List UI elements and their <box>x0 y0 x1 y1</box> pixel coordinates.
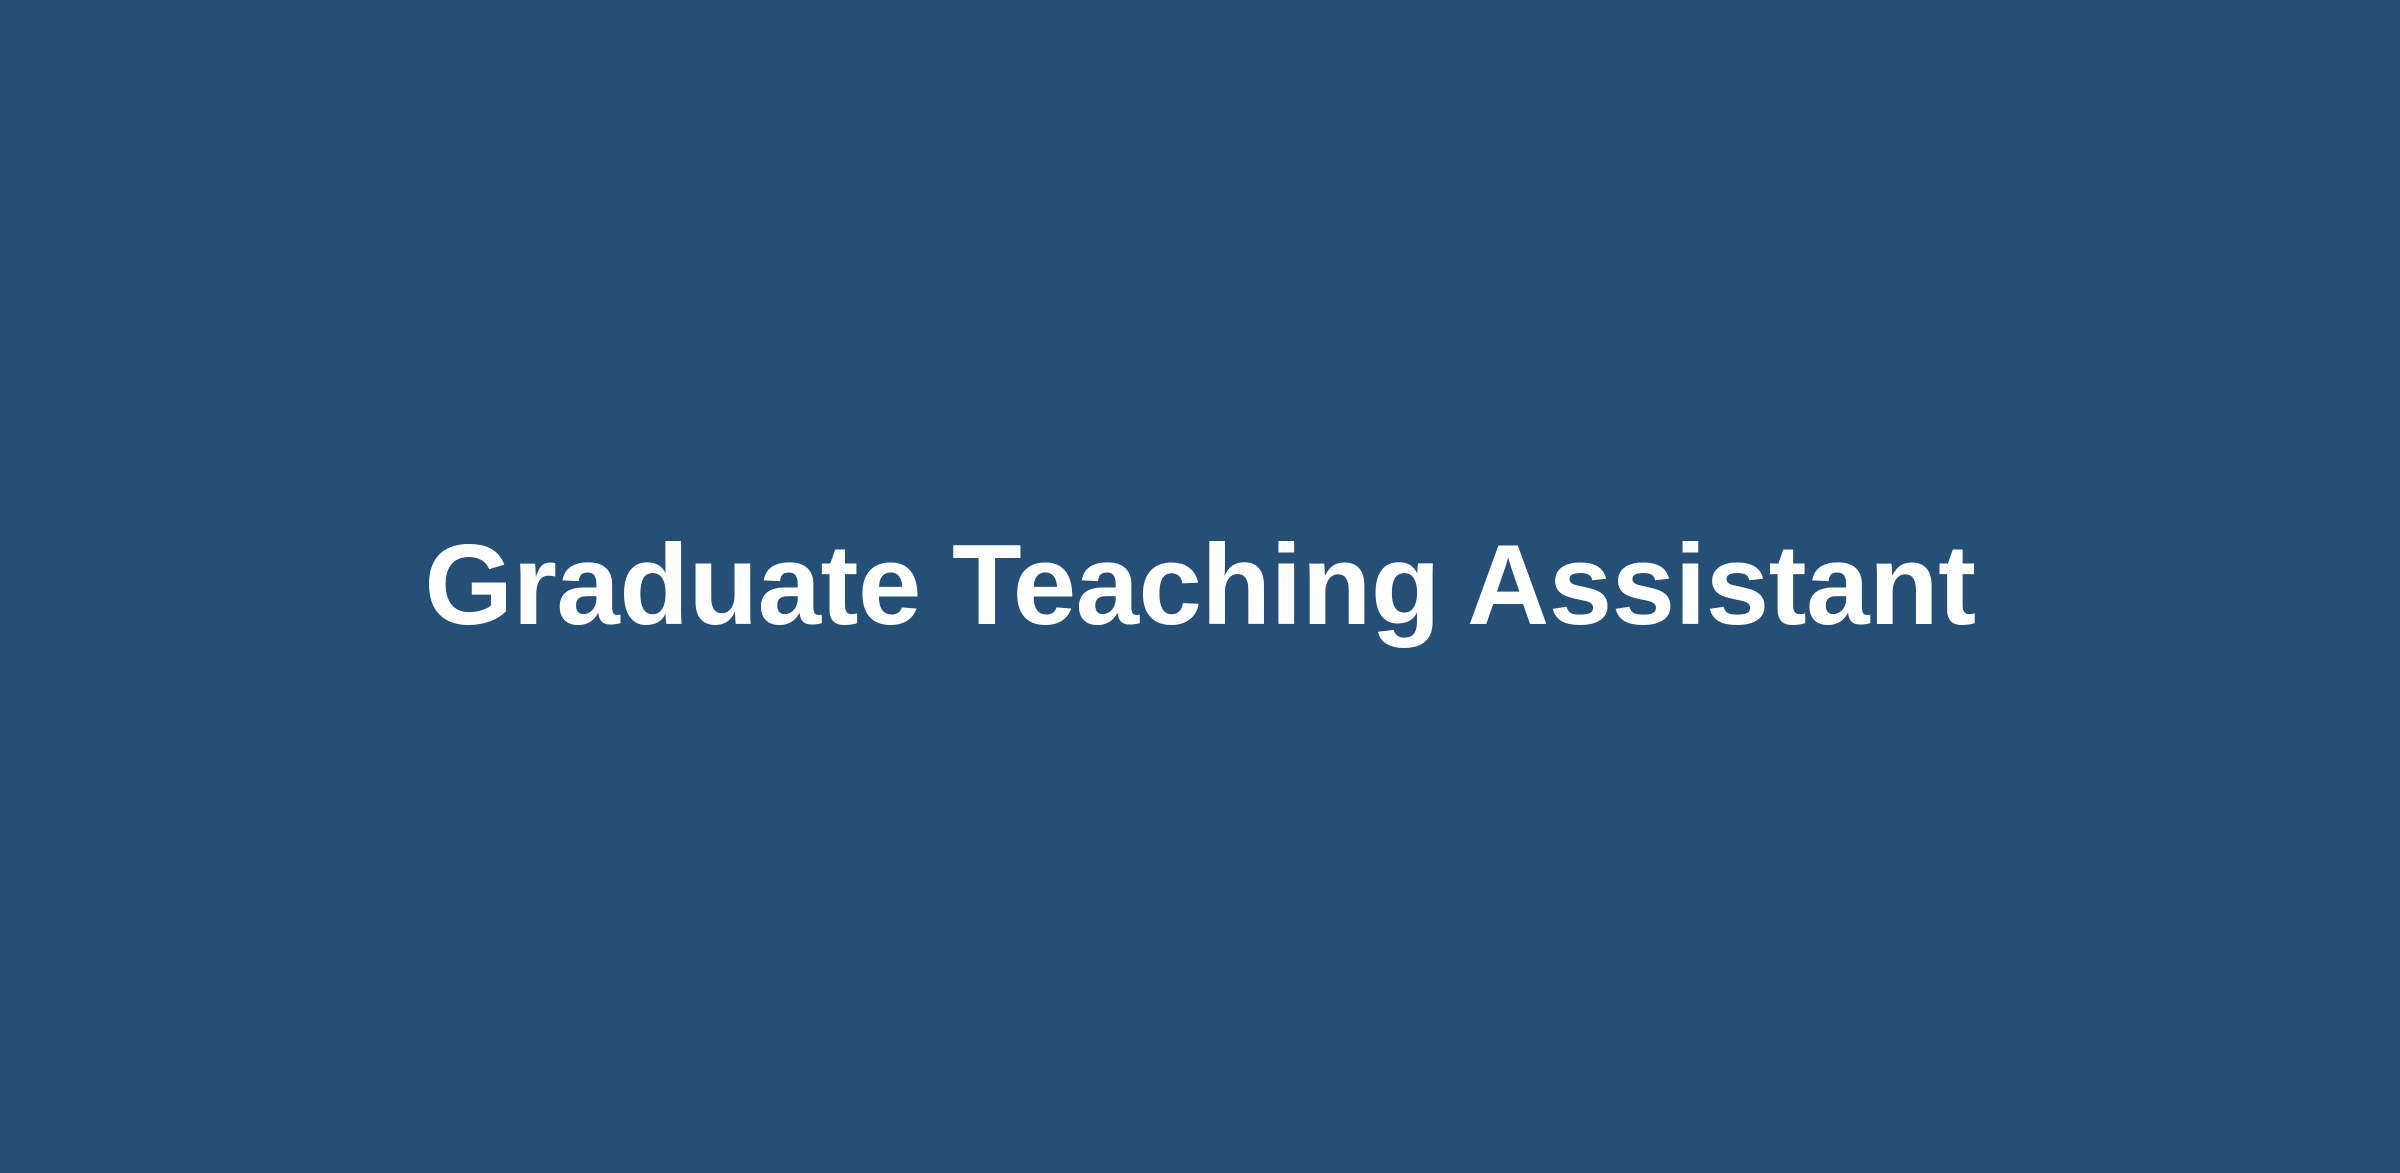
banner-content: Graduate Teaching Assistant <box>0 519 2400 654</box>
title-banner: Graduate Teaching Assistant <box>0 0 2400 1173</box>
page-title: Graduate Teaching Assistant <box>424 519 1975 654</box>
